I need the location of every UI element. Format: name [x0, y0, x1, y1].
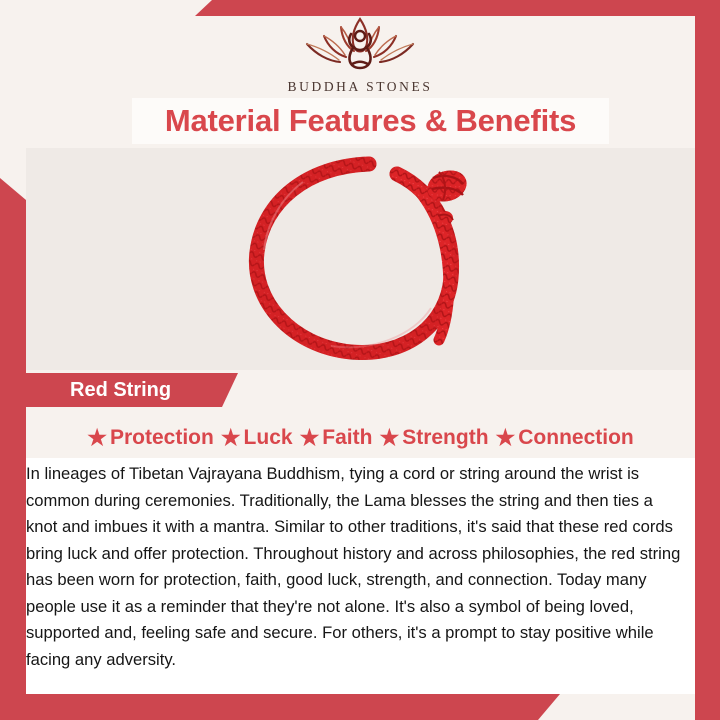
- lotus-meditation-icon: [0, 14, 720, 77]
- decor-bottom-bar: [0, 694, 560, 720]
- description-area: In lineages of Tibetan Vajrayana Buddhis…: [26, 458, 695, 694]
- decor-left-bar: [0, 178, 26, 720]
- benefit-label: Luck: [244, 426, 293, 450]
- benefit-item: ★ Connection: [496, 426, 634, 450]
- benefit-label: Connection: [518, 426, 634, 450]
- product-image: [26, 148, 695, 370]
- description-text: In lineages of Tibetan Vajrayana Buddhis…: [26, 458, 695, 673]
- benefit-item: ★ Strength: [379, 426, 488, 450]
- benefit-label: Protection: [110, 426, 214, 450]
- star-icon: ★: [496, 427, 516, 449]
- infographic-page: BUDDHA STONES Material Features & Benefi…: [0, 0, 720, 720]
- product-label: Red String: [26, 379, 171, 402]
- benefit-label: Faith: [322, 426, 372, 450]
- page-title: Material Features & Benefits: [165, 103, 576, 139]
- brand-name: BUDDHA STONES: [0, 79, 720, 95]
- benefits-list: ★ Protection ★ Luck ★ Faith ★ Strength ★…: [26, 420, 695, 456]
- star-icon: ★: [379, 427, 399, 449]
- benefit-item: ★ Protection: [87, 426, 214, 450]
- brand-logo: BUDDHA STONES: [0, 14, 720, 95]
- product-label-banner: Red String: [26, 373, 238, 407]
- star-icon: ★: [87, 427, 107, 449]
- decor-right-bar: [695, 16, 720, 720]
- star-icon: ★: [300, 427, 320, 449]
- benefit-item: ★ Luck: [221, 426, 293, 450]
- benefit-label: Strength: [402, 426, 488, 450]
- page-title-band: Material Features & Benefits: [132, 98, 609, 144]
- star-icon: ★: [221, 427, 241, 449]
- benefit-item: ★ Faith: [300, 426, 373, 450]
